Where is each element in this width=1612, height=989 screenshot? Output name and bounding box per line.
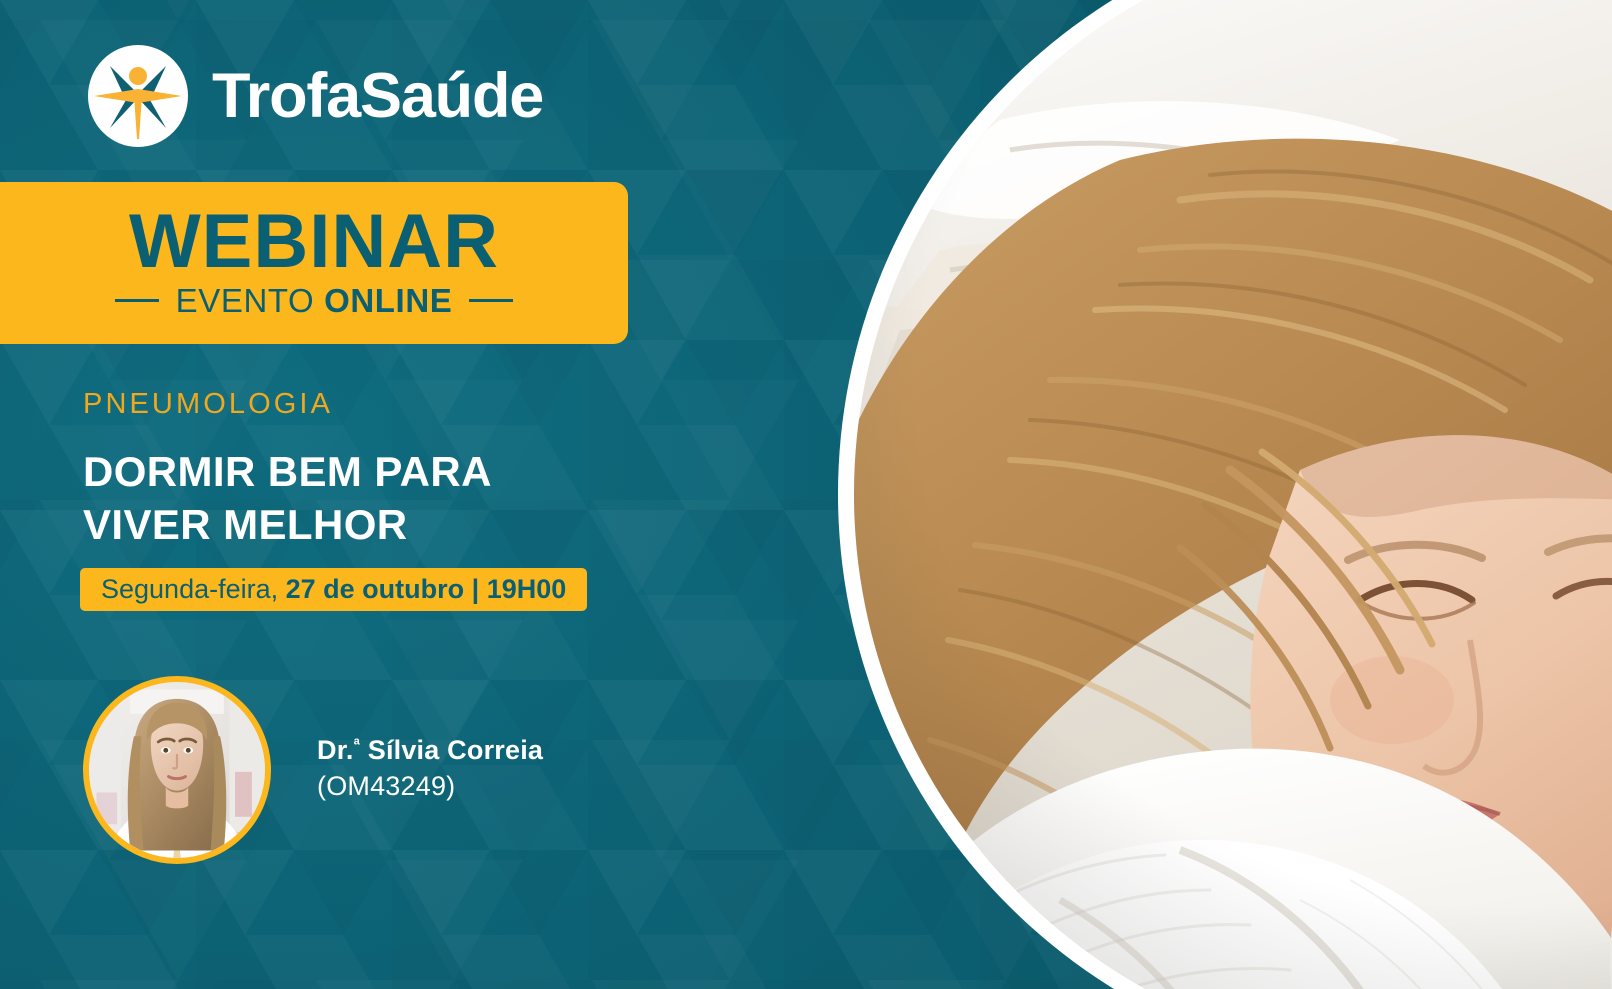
brand-logo: TrofaSaúde: [86, 44, 543, 148]
event-title: DORMIR BEM PARA VIVER MELHOR: [83, 446, 492, 552]
banner-subtitle-text: EVENTO ONLINE: [176, 284, 453, 317]
event-date-badge: Segunda-feira, 27 de outubro | 19H00: [80, 568, 587, 611]
event-title-line-1: DORMIR BEM PARA: [83, 446, 492, 499]
banner-title: WEBINAR: [129, 205, 499, 279]
speaker-name: Dr.ª Sílvia Correia: [317, 732, 543, 768]
event-date-text: Segunda-feira, 27 de outubro | 19H00: [101, 576, 566, 603]
event-date-bold: 27 de outubro | 19H00: [286, 574, 567, 604]
speaker-registration: (OM43249): [317, 768, 543, 804]
speaker-name-prefix: Dr.: [317, 735, 354, 765]
banner-subtitle-light: EVENTO: [176, 282, 324, 319]
webinar-poster: TrofaSaúde WEBINAR EVENTO ONLINE PNEUMOL…: [0, 0, 1612, 989]
dash-right-icon: [469, 299, 513, 302]
dash-left-icon: [115, 299, 159, 302]
event-date-prefix: Segunda-feira,: [101, 574, 286, 604]
event-title-line-2: VIVER MELHOR: [83, 499, 492, 552]
speaker-info: Dr.ª Sílvia Correia (OM43249): [317, 732, 543, 808]
event-specialty: PNEUMOLOGIA: [83, 390, 333, 419]
avatar: [83, 676, 271, 864]
banner-subtitle-bold: ONLINE: [324, 282, 452, 319]
brand-name: TrofaSaúde: [212, 65, 543, 128]
banner-subtitle: EVENTO ONLINE: [115, 284, 514, 317]
webinar-banner: WEBINAR EVENTO ONLINE: [0, 182, 628, 344]
speaker-block: Dr.ª Sílvia Correia (OM43249): [83, 676, 543, 864]
speaker-name-text: Sílvia Correia: [360, 735, 543, 765]
trofasaude-star-figure-icon: [86, 44, 190, 148]
